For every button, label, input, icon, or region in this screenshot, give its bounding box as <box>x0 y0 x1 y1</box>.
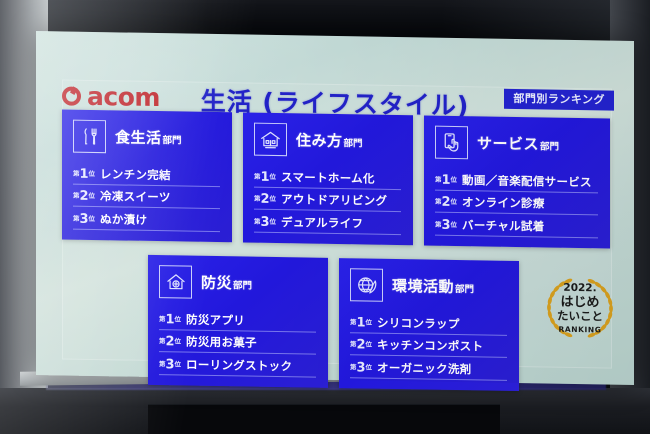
rank-label: オーガニック洗剤 <box>377 362 471 377</box>
seal-year-text: 2022. <box>563 282 596 295</box>
card-title: 食生活部門 <box>115 126 182 148</box>
rank-number: 第1位 <box>435 170 457 186</box>
rank-digit: 2 <box>442 195 451 210</box>
rank-label: バーチャル試着 <box>462 219 544 234</box>
card-header: 環境活動部門 <box>350 268 507 304</box>
rank-label: ぬか漬け <box>100 213 147 227</box>
rank-digit: 2 <box>166 334 175 349</box>
card-title: 住み方部門 <box>296 129 363 151</box>
rank-digit: 3 <box>166 357 175 372</box>
rank-number: 第3位 <box>73 210 95 226</box>
rank-suffix: 位 <box>270 172 277 180</box>
rank-digit: 3 <box>80 212 89 227</box>
rank-number: 第3位 <box>159 355 181 371</box>
rank-suffix: 位 <box>89 215 96 223</box>
card-title-suffix: 部門 <box>540 141 559 152</box>
rank-digit: 2 <box>80 189 89 204</box>
ranking-row: 第2位オンライン診療 <box>435 190 598 215</box>
card-header: 食生活部門 <box>73 120 220 155</box>
rank-label: 防災用お菓子 <box>186 336 257 350</box>
rank-number: 第3位 <box>435 216 457 232</box>
card-title-suffix: 部門 <box>344 138 363 149</box>
podium <box>148 404 500 434</box>
category-card: 環境活動部門第1位シリコンラップ第2位キッチンコンポスト第3位オーガニック洗剤 <box>339 258 519 391</box>
ranking-row: 第1位シリコンラップ <box>350 310 507 335</box>
rank-number: 第3位 <box>254 213 276 229</box>
rank-suffix: 位 <box>451 198 458 206</box>
rank-digit: 3 <box>261 215 270 230</box>
card-title-main: 環境活動 <box>392 277 454 296</box>
rank-suffix: 位 <box>366 341 373 349</box>
seal-line3-text: RANKING <box>558 325 601 335</box>
card-title: サービス部門 <box>477 132 559 154</box>
card-title-suffix: 部門 <box>233 280 252 291</box>
rank-suffix: 位 <box>175 338 182 346</box>
rank-digit: 1 <box>261 169 270 184</box>
projector-room-scene: acom 生活 (ライフスタイル) 部門別ランキング 食生活部門第1位レンチン完… <box>0 0 650 434</box>
ranking-row: 第1位スマートホーム化 <box>254 165 401 190</box>
rank-suffix: 位 <box>451 175 458 183</box>
rank-digit: 3 <box>357 360 366 375</box>
rank-digit: 1 <box>166 312 175 327</box>
ranking-row: 第2位冷凍スイーツ <box>73 184 220 209</box>
category-card: 住み方部門第1位スマートホーム化第2位アウトドアリビング第3位デュアルライフ <box>243 112 413 245</box>
ranking-row: 第2位防災用お菓子 <box>159 330 316 355</box>
card-title-main: 住み方 <box>296 131 343 150</box>
ranking-row: 第1位防災アプリ <box>159 307 316 332</box>
rank-label: オンライン診療 <box>462 196 545 211</box>
globe-leaf-icon <box>350 268 383 302</box>
card-title: 防災部門 <box>201 272 252 294</box>
rank-number: 第2位 <box>350 335 372 351</box>
rank-number: 第2位 <box>435 193 457 209</box>
rank-label: 防災アプリ <box>186 313 245 327</box>
card-title-main: 防災 <box>201 274 232 293</box>
ranking-row: 第3位オーガニック洗剤 <box>350 356 507 381</box>
category-ranking-badge: 部門別ランキング <box>504 89 614 111</box>
rank-number: 第1位 <box>350 313 372 329</box>
slide-surface: acom 生活 (ライフスタイル) 部門別ランキング 食生活部門第1位レンチン完… <box>36 31 634 385</box>
card-title-suffix: 部門 <box>163 135 182 146</box>
rank-number: 第1位 <box>254 167 276 183</box>
category-card: サービス部門第1位動画／音楽配信サービス第2位オンライン診療第3位バーチャル試着 <box>424 115 610 248</box>
rank-digit: 2 <box>261 192 270 207</box>
rank-number: 第1位 <box>159 310 181 326</box>
cutlery-icon <box>73 120 106 154</box>
card-header: 防災部門 <box>159 265 316 301</box>
rank-label: ローリングストック <box>186 358 292 373</box>
rank-suffix: 位 <box>366 318 373 326</box>
rank-label: シリコンラップ <box>377 316 460 331</box>
rank-label: アウトドアリビング <box>281 193 387 208</box>
projection-screen: acom 生活 (ライフスタイル) 部門別ランキング 食生活部門第1位レンチン完… <box>36 31 634 385</box>
rank-suffix: 位 <box>366 363 373 371</box>
ranking-row: 第1位レンチン完結 <box>73 162 220 187</box>
house-icon <box>254 123 287 157</box>
ranking-row: 第2位キッチンコンポスト <box>350 333 507 358</box>
card-title-main: 食生活 <box>115 128 162 147</box>
rank-label: キッチンコンポスト <box>377 339 483 354</box>
rank-digit: 3 <box>442 218 451 233</box>
category-card: 防災部門第1位防災アプリ第2位防災用お菓子第3位ローリングストック <box>148 255 328 388</box>
rank-number: 第2位 <box>73 187 95 203</box>
rank-suffix: 位 <box>451 221 458 229</box>
rank-label: スマートホーム化 <box>281 171 375 186</box>
rank-suffix: 位 <box>89 169 96 177</box>
ranking-row: 第3位バーチャル試着 <box>435 213 598 238</box>
card-title-suffix: 部門 <box>455 284 474 295</box>
ranking-seal: 2022. はじめ たいこと RANKING <box>542 269 618 342</box>
rank-label: 動画／音楽配信サービス <box>462 174 592 189</box>
rank-digit: 1 <box>357 315 366 330</box>
shelter-cross-icon <box>159 265 192 299</box>
rank-number: 第3位 <box>350 358 372 374</box>
ranking-row: 第3位ぬか漬け <box>73 207 220 232</box>
rank-digit: 1 <box>442 172 451 187</box>
seal-line2-text: たいこと <box>557 309 603 324</box>
card-title-main: サービス <box>477 134 539 153</box>
ranking-row: 第2位アウトドアリビング <box>254 187 401 212</box>
rank-suffix: 位 <box>89 192 96 200</box>
category-card: 食生活部門第1位レンチン完結第2位冷凍スイーツ第3位ぬか漬け <box>62 109 232 242</box>
rank-digit: 1 <box>80 166 89 181</box>
smartphone-hand-icon <box>435 126 468 160</box>
ranking-row: 第1位動画／音楽配信サービス <box>435 168 598 193</box>
rank-label: 冷凍スイーツ <box>100 190 171 204</box>
rank-number: 第2位 <box>159 332 181 348</box>
ranking-row: 第3位デュアルライフ <box>254 210 401 235</box>
rank-number: 第2位 <box>254 190 276 206</box>
ranking-row: 第3位ローリングストック <box>159 353 316 378</box>
rank-suffix: 位 <box>175 315 182 323</box>
rank-suffix: 位 <box>270 218 277 226</box>
rank-suffix: 位 <box>270 195 277 203</box>
rank-suffix: 位 <box>175 360 182 368</box>
card-header: 住み方部門 <box>254 123 401 158</box>
rank-number: 第1位 <box>73 164 95 180</box>
rank-label: レンチン完結 <box>100 168 171 182</box>
card-title: 環境活動部門 <box>392 275 474 297</box>
card-header: サービス部門 <box>435 126 598 162</box>
rank-digit: 2 <box>357 338 366 353</box>
rank-label: デュアルライフ <box>281 216 363 231</box>
